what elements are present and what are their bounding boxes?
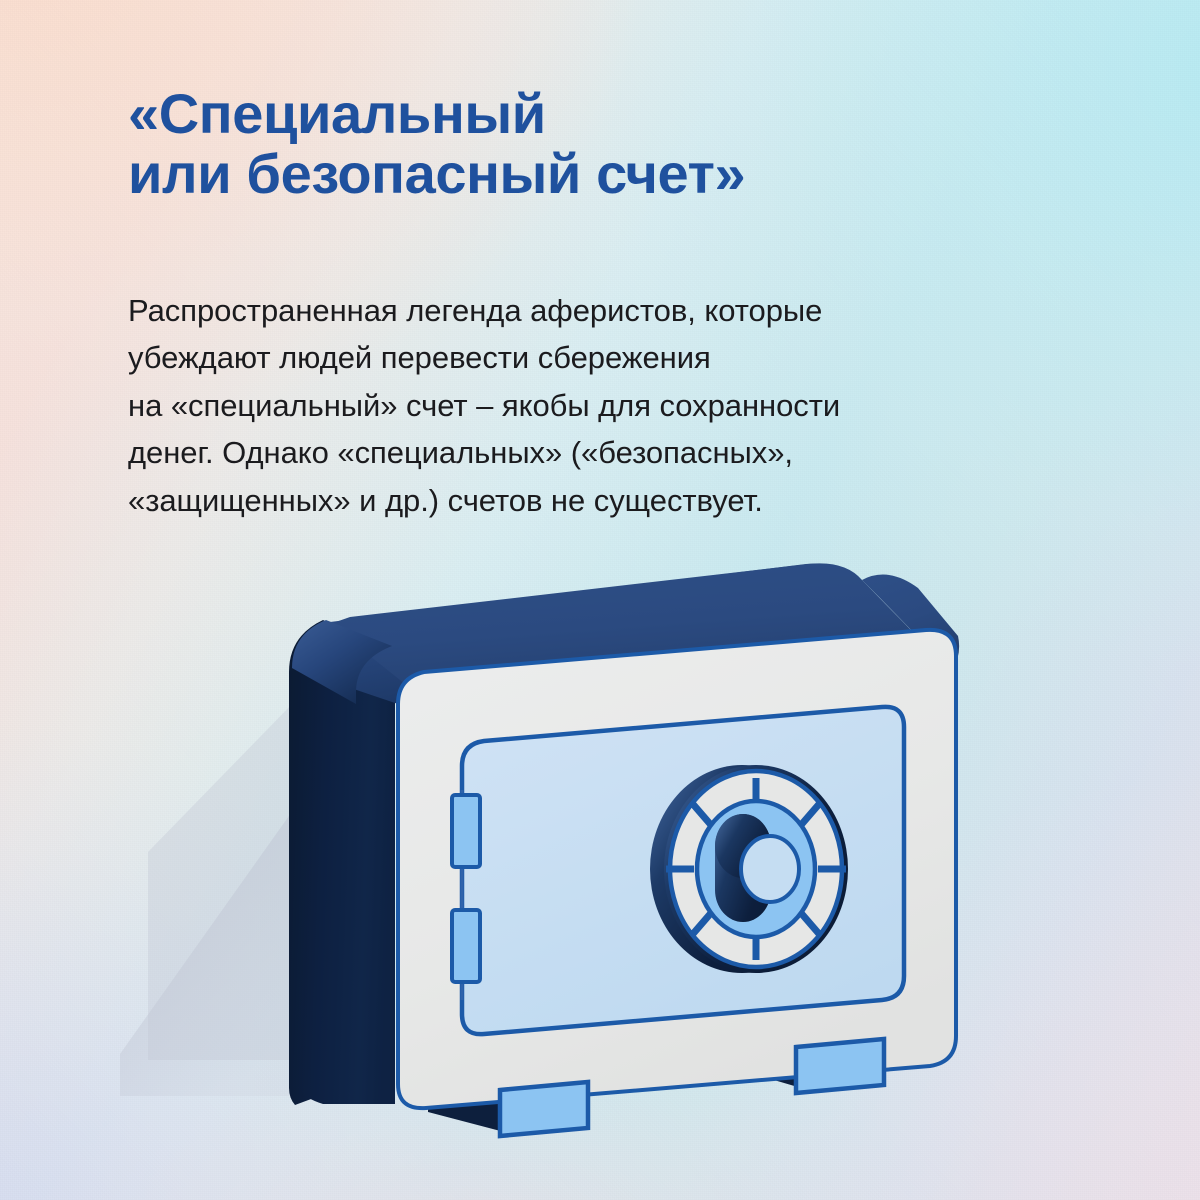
text-block: «Специальный или безопасный счет» Распро… bbox=[128, 84, 1088, 524]
poster-canvas: «Специальный или безопасный счет» Распро… bbox=[0, 0, 1200, 1200]
page-title: «Специальный или безопасный счет» bbox=[128, 84, 1088, 205]
hinge-lower bbox=[452, 910, 480, 982]
foot-right bbox=[796, 1039, 884, 1093]
hinge-upper bbox=[452, 795, 480, 867]
drop-shadow bbox=[120, 700, 296, 1096]
foot-left bbox=[500, 1082, 588, 1136]
body-paragraph: Распространенная легенда аферистов, кото… bbox=[128, 205, 1088, 524]
